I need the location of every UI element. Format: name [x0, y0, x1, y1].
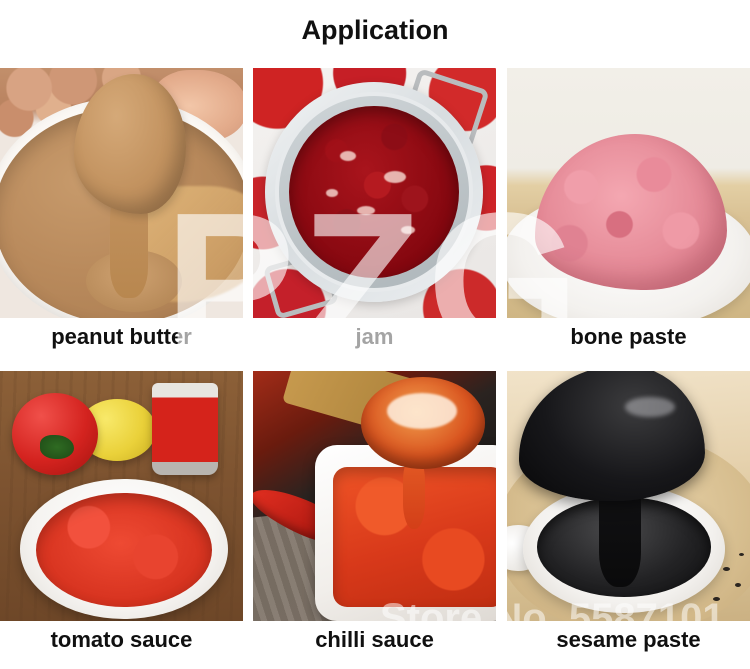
grid-row-1: peanut butter	[0, 68, 750, 371]
grid-cell-bone-paste[interactable]: bone paste	[507, 68, 750, 371]
tomato-stem	[40, 435, 74, 459]
grid-cell-sesame-paste[interactable]: sesame paste	[507, 371, 750, 669]
grid-cell-chilli-sauce[interactable]: chilli sauce	[253, 371, 496, 669]
tomato-sauce-photo	[0, 371, 243, 621]
cell-caption: sesame paste	[507, 625, 750, 655]
jar-rim	[275, 92, 473, 292]
jam-highlight	[326, 189, 338, 197]
application-grid: peanut butter	[0, 68, 750, 669]
glass-jar	[265, 82, 483, 302]
sesame-seed	[723, 567, 730, 571]
grid-cell-tomato-sauce[interactable]: tomato sauce	[0, 371, 243, 669]
jam-highlight	[357, 206, 375, 215]
spoon-highlight	[387, 393, 457, 429]
jam-highlight	[401, 226, 415, 234]
sauce-jar	[152, 383, 218, 475]
sesame-seed	[739, 553, 744, 556]
bowl-shape	[20, 479, 228, 619]
grid-row-2: tomato sauce chilli sauce	[0, 371, 750, 669]
cell-caption: chilli sauce	[253, 625, 496, 655]
cell-caption: bone paste	[507, 322, 750, 352]
jam-surface	[289, 106, 459, 278]
sesame-paste-photo	[507, 371, 750, 621]
page-title: Application	[0, 14, 750, 46]
sesame-seed	[735, 583, 741, 587]
chilli-sauce-photo	[253, 371, 496, 621]
cell-caption: peanut butter	[0, 322, 243, 352]
cell-caption: jam	[253, 322, 496, 352]
grid-cell-jam[interactable]: jam	[253, 68, 496, 371]
jam-highlight	[384, 171, 406, 183]
tomato-shape	[12, 393, 98, 475]
application-collage: Application peanut butter	[0, 0, 750, 669]
peanut-butter-photo	[0, 68, 243, 318]
cell-caption: tomato sauce	[0, 625, 243, 655]
tomato-sauce-surface	[36, 493, 212, 607]
paste-highlight	[625, 397, 675, 417]
jam-highlight	[340, 151, 356, 161]
jam-photo	[253, 68, 496, 318]
sesame-seed	[713, 597, 720, 601]
bone-paste-photo	[507, 68, 750, 318]
grid-cell-peanut-butter[interactable]: peanut butter	[0, 68, 243, 371]
